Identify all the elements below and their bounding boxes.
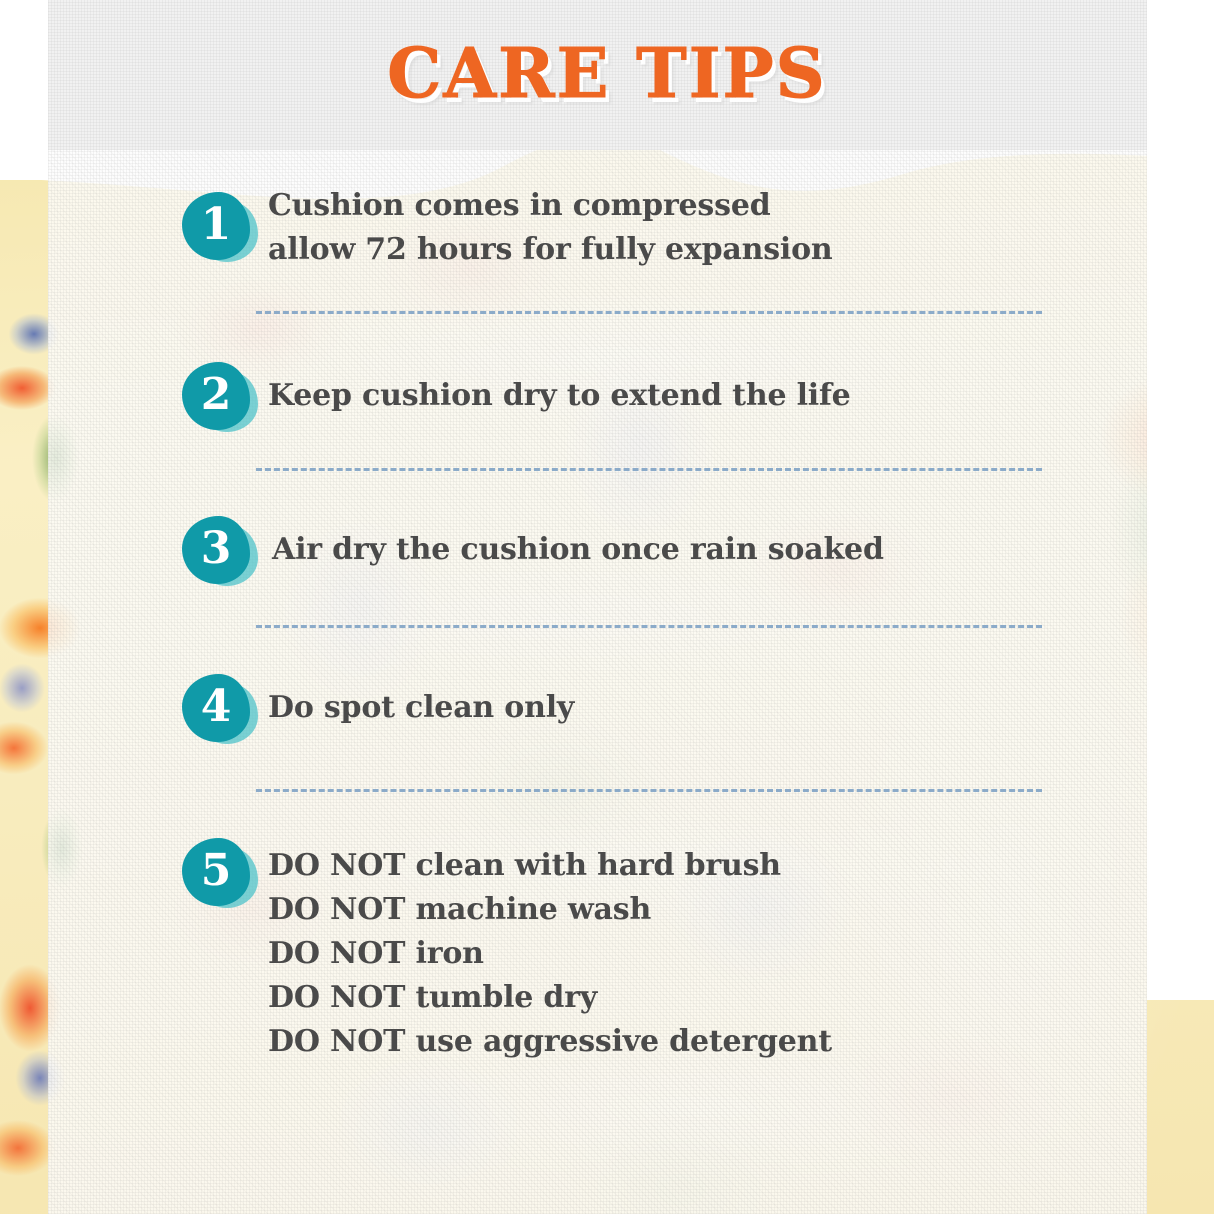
- step-badge-2: 2: [182, 362, 252, 432]
- tip-text-4: Do spot clean only: [268, 686, 574, 730]
- tip-text-2: Keep cushion dry to extend the life: [268, 374, 851, 418]
- tip-line: DO NOT tumble dry: [268, 976, 832, 1020]
- divider-1: [256, 311, 1042, 314]
- tip-text-1: Cushion comes in compressed allow 72 hou…: [268, 184, 833, 272]
- care-tips-infographic: CARE TIPS 1 Cushion comes in compressed …: [0, 0, 1214, 1214]
- tip-line: DO NOT clean with hard brush: [268, 844, 832, 888]
- tip-line: Do spot clean only: [268, 686, 574, 730]
- step-number-3: 3: [182, 516, 250, 584]
- step-number-1: 1: [182, 192, 250, 260]
- tip-text-5: DO NOT clean with hard brush DO NOT mach…: [268, 844, 832, 1064]
- step-badge-3: 3: [182, 516, 252, 586]
- step-badge-5: 5: [182, 838, 252, 908]
- divider-3: [256, 625, 1042, 628]
- divider-2: [256, 468, 1042, 471]
- tip-line: DO NOT machine wash: [268, 888, 832, 932]
- step-number-2: 2: [182, 362, 250, 430]
- tip-line: Keep cushion dry to extend the life: [268, 374, 851, 418]
- tip-line: DO NOT use aggressive detergent: [268, 1020, 832, 1064]
- tip-line: allow 72 hours for fully expansion: [268, 228, 833, 272]
- step-badge-1: 1: [182, 192, 252, 262]
- tip-line: DO NOT iron: [268, 932, 832, 976]
- tip-line: Air dry the cushion once rain soaked: [272, 528, 884, 572]
- step-number-5: 5: [182, 838, 250, 906]
- tip-text-3: Air dry the cushion once rain soaked: [272, 528, 884, 572]
- step-badge-4: 4: [182, 674, 252, 744]
- divider-4: [256, 789, 1042, 792]
- step-number-4: 4: [182, 674, 250, 742]
- tips-list: 1 Cushion comes in compressed allow 72 h…: [0, 0, 1214, 1214]
- tip-line: Cushion comes in compressed: [268, 184, 833, 228]
